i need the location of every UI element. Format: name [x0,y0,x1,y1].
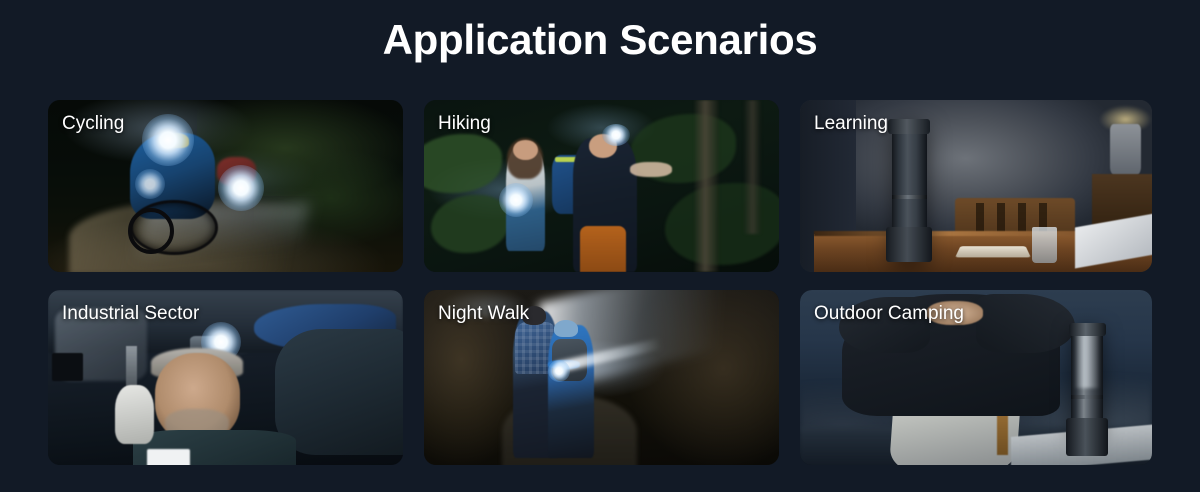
bicycle-wheel [128,208,174,254]
handlebar-light [135,169,165,199]
flashlight-ring [892,195,927,199]
headlamp-light-primary [142,114,194,166]
scenario-tile-learning[interactable]: Learning [800,100,1152,272]
foliage-right-lower [665,183,779,266]
open-book [956,246,1032,257]
scenario-label-night-walk: Night Walk [438,303,529,325]
hiker-woman-head [513,140,538,161]
tree-trunk-far [744,100,762,234]
jacket-logo [147,449,190,465]
camper-arm-right [976,294,1075,354]
worker-sleeve [275,329,403,455]
page-title: Application Scenarios [0,16,1200,64]
application-scenarios-page: Application Scenarios Cycling [0,0,1200,492]
scenario-label-cycling: Cycling [62,113,124,135]
flashlight-ring [1071,395,1103,399]
scenario-tile-night-walk[interactable]: Night Walk [424,290,779,465]
scenario-tile-outdoor-camping[interactable]: Outdoor Camping [800,290,1152,465]
flashlight-highlight [1075,332,1100,388]
scenario-label-learning: Learning [814,113,888,135]
scenario-label-hiking: Hiking [438,113,491,135]
scenario-tile-industrial-sector[interactable]: Industrial Sector [48,290,403,465]
flashlight-base [886,227,932,261]
flashlight-head [888,119,930,134]
headlamp-light [602,124,630,146]
flashlight-head [1069,323,1106,335]
scenario-label-outdoor-camping: Outdoor Camping [814,303,964,325]
foliage-left-upper [424,134,502,192]
beanie-hat [554,320,579,338]
vase [1110,124,1142,176]
chest-lamp-light [499,183,533,217]
scenario-tile-cycling[interactable]: Cycling [48,100,403,272]
scenario-tile-hiking[interactable]: Hiking [424,100,779,272]
scenario-label-industrial-sector: Industrial Sector [62,303,199,325]
scenario-grid: Cycling Hik [48,100,1152,465]
foliage-left-lower [431,195,509,253]
hiker-man-arm [630,162,673,177]
water-glass [1032,227,1057,263]
work-glove [115,385,154,445]
tree-trunk [694,100,719,272]
flashlight-base [1066,418,1108,457]
hiker-man-pants [580,226,626,272]
dark-panel [52,353,84,381]
